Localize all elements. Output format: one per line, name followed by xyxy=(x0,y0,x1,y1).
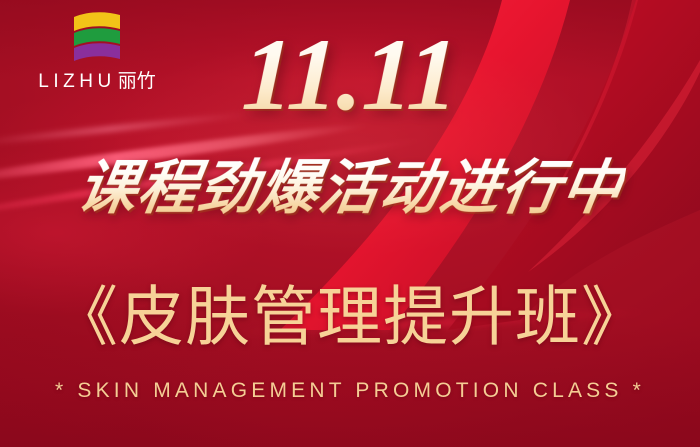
course-title-line: 《皮肤管理提升班》 xyxy=(0,283,700,353)
english-subtitle-text: * SKIN MANAGEMENT PROMOTION CLASS * xyxy=(55,380,645,401)
english-subtitle-line: * SKIN MANAGEMENT PROMOTION CLASS * xyxy=(0,380,700,402)
slogan-line: 课程劲爆活动进行中 xyxy=(0,157,700,220)
promo-banner: LIZHU 丽竹 11.11 课程劲爆活动进行中 《皮肤管理提升班》 * SKI… xyxy=(0,0,700,447)
headline-date: 11.11 xyxy=(0,24,700,127)
course-title-text: 《皮肤管理提升班》 xyxy=(53,283,647,353)
slogan-text: 课程劲爆活动进行中 xyxy=(73,157,627,220)
headline-date-text: 11.11 xyxy=(240,24,459,127)
